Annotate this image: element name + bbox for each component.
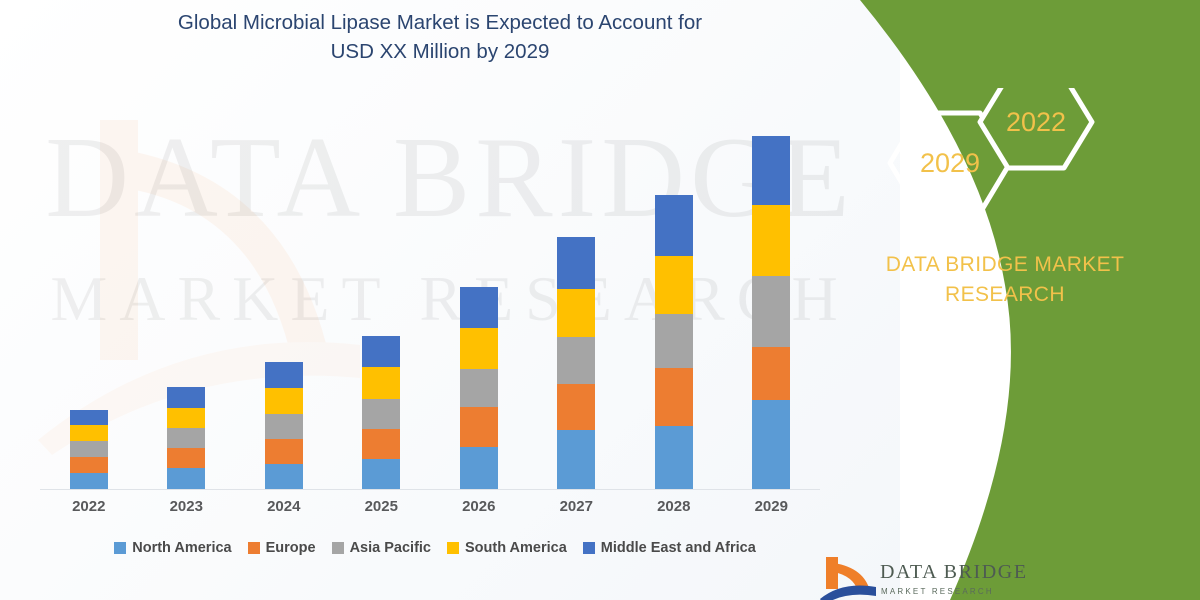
- bar-group-2023[interactable]: [143, 387, 229, 489]
- bar-segment-asia-pacific[interactable]: [460, 369, 498, 407]
- bar-segment-south-america[interactable]: [655, 256, 693, 314]
- bar-segment-south-america[interactable]: [460, 328, 498, 369]
- legend-label: South America: [465, 540, 567, 556]
- bar-segment-middle-east-and-africa[interactable]: [362, 336, 400, 367]
- bar-segment-middle-east-and-africa[interactable]: [70, 410, 108, 425]
- legend-label: Europe: [266, 540, 316, 556]
- chart-title-line-2: USD XX Million by 2029: [60, 37, 820, 66]
- bar-stack: [265, 362, 303, 489]
- bar-segment-asia-pacific[interactable]: [362, 399, 400, 429]
- bar-series-container: [40, 101, 820, 489]
- bar-segment-europe[interactable]: [362, 429, 400, 459]
- x-axis-label-2022: 2022: [46, 498, 132, 515]
- hexagon-2022-shape: [980, 88, 1092, 168]
- legend-item-asia-pacific[interactable]: Asia Pacific: [332, 540, 431, 556]
- bar-segment-asia-pacific[interactable]: [655, 314, 693, 368]
- hexagon-2029-label: 2029: [920, 148, 980, 178]
- legend-swatch-icon: [248, 542, 260, 554]
- bar-stack: [167, 387, 205, 489]
- bar-segment-north-america[interactable]: [655, 426, 693, 489]
- legend-item-north-america[interactable]: North America: [114, 540, 231, 556]
- bar-segment-south-america[interactable]: [167, 408, 205, 428]
- bar-group-2028[interactable]: [631, 195, 717, 489]
- chart-title: Global Microbial Lipase Market is Expect…: [60, 8, 820, 66]
- chart-legend: North AmericaEuropeAsia PacificSouth Ame…: [40, 540, 830, 556]
- bar-stack: [752, 136, 790, 489]
- bar-group-2027[interactable]: [533, 237, 619, 489]
- bar-segment-asia-pacific[interactable]: [752, 276, 790, 347]
- bar-stack: [655, 195, 693, 489]
- bar-segment-europe[interactable]: [70, 457, 108, 473]
- bar-group-2024[interactable]: [241, 362, 327, 489]
- bar-segment-asia-pacific[interactable]: [167, 428, 205, 448]
- bar-segment-south-america[interactable]: [557, 289, 595, 337]
- bar-stack: [557, 237, 595, 489]
- legend-label: Asia Pacific: [350, 540, 431, 556]
- chart-title-line-1: Global Microbial Lipase Market is Expect…: [60, 8, 820, 37]
- bar-segment-asia-pacific[interactable]: [70, 441, 108, 457]
- bar-stack: [362, 336, 400, 489]
- bar-segment-middle-east-and-africa[interactable]: [167, 387, 205, 408]
- legend-item-middle-east-and-africa[interactable]: Middle East and Africa: [583, 540, 756, 556]
- hexagon-2022-label: 2022: [1006, 107, 1066, 137]
- bar-segment-middle-east-and-africa[interactable]: [752, 136, 790, 205]
- x-axis-label-2026: 2026: [436, 498, 522, 515]
- bar-segment-europe[interactable]: [557, 384, 595, 430]
- bar-segment-asia-pacific[interactable]: [557, 337, 595, 384]
- legend-item-europe[interactable]: Europe: [248, 540, 316, 556]
- plot-area: [40, 100, 820, 490]
- chart-infographic: DATA BRIDGE MARKET RESEARCH Global Micro…: [0, 0, 1200, 600]
- bar-segment-europe[interactable]: [265, 439, 303, 464]
- bar-segment-north-america[interactable]: [70, 473, 108, 489]
- bar-segment-south-america[interactable]: [362, 367, 400, 399]
- bar-group-2022[interactable]: [46, 410, 132, 489]
- legend-swatch-icon: [583, 542, 595, 554]
- x-axis-label-2024: 2024: [241, 498, 327, 515]
- bar-segment-europe[interactable]: [655, 368, 693, 426]
- bar-stack: [70, 410, 108, 489]
- bar-group-2029[interactable]: [728, 136, 814, 489]
- x-axis-label-2025: 2025: [338, 498, 424, 515]
- bar-segment-middle-east-and-africa[interactable]: [655, 195, 693, 256]
- legend-item-south-america[interactable]: South America: [447, 540, 567, 556]
- bar-segment-europe[interactable]: [752, 347, 790, 400]
- legend-label: North America: [132, 540, 231, 556]
- bar-segment-middle-east-and-africa[interactable]: [557, 237, 595, 289]
- bar-segment-europe[interactable]: [167, 448, 205, 468]
- bar-group-2026[interactable]: [436, 287, 522, 489]
- bar-segment-south-america[interactable]: [752, 205, 790, 276]
- bar-stack: [460, 287, 498, 489]
- bar-segment-north-america[interactable]: [362, 459, 400, 489]
- bar-segment-south-america[interactable]: [265, 388, 303, 414]
- bar-segment-middle-east-and-africa[interactable]: [460, 287, 498, 328]
- bar-segment-north-america[interactable]: [167, 468, 205, 489]
- x-axis-label-2028: 2028: [631, 498, 717, 515]
- x-axis-tick-labels: 20222023202420252026202720282029: [40, 498, 820, 515]
- x-axis-label-2023: 2023: [143, 498, 229, 515]
- bar-segment-north-america[interactable]: [460, 447, 498, 489]
- bar-segment-north-america[interactable]: [265, 464, 303, 489]
- footer-logo-name: DATA BRIDGE: [880, 561, 1028, 584]
- x-axis-line: [40, 489, 820, 490]
- legend-swatch-icon: [332, 542, 344, 554]
- bar-segment-middle-east-and-africa[interactable]: [265, 362, 303, 388]
- x-axis-label-2029: 2029: [728, 498, 814, 515]
- legend-swatch-icon: [114, 542, 126, 554]
- bar-segment-north-america[interactable]: [557, 430, 595, 489]
- hexagon-2029-shape: [890, 113, 1010, 213]
- legend-swatch-icon: [447, 542, 459, 554]
- legend-label: Middle East and Africa: [601, 540, 756, 556]
- bar-segment-asia-pacific[interactable]: [265, 414, 303, 439]
- bar-segment-north-america[interactable]: [752, 400, 790, 489]
- bar-segment-south-america[interactable]: [70, 425, 108, 441]
- x-axis-label-2027: 2027: [533, 498, 619, 515]
- chart-panel: DATA BRIDGE MARKET RESEARCH Global Micro…: [0, 0, 900, 600]
- bar-segment-europe[interactable]: [460, 407, 498, 447]
- bar-group-2025[interactable]: [338, 336, 424, 489]
